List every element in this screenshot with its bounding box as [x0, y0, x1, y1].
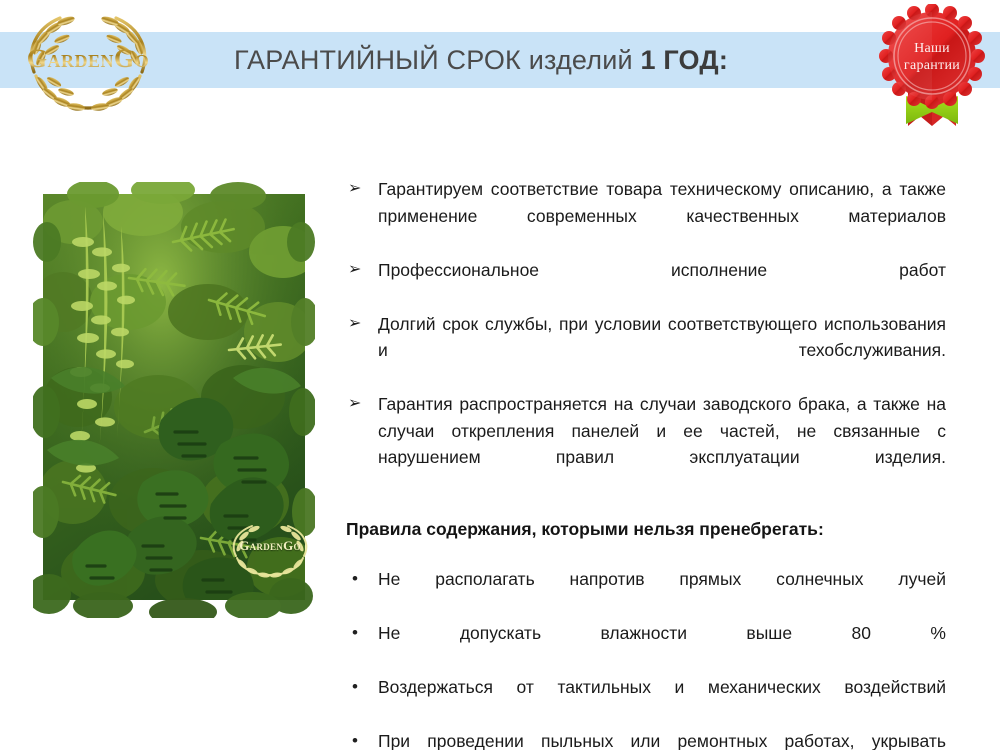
rules-heading: Правила содержания, которыми нельзя прен… [346, 517, 946, 542]
list-item: • Воздержаться от тактильных и механичес… [346, 674, 946, 727]
list-item: ➢ Гарантия распространяется на случаи за… [346, 391, 946, 497]
dot-bullet-icon: • [352, 566, 358, 593]
list-item: • Не допускать влажности выше 80 % [346, 620, 946, 673]
arrow-bullet-icon: ➢ [348, 176, 361, 203]
list-item-text: Гарантия распространяется на случаи заво… [378, 394, 946, 467]
page-title-strong: 1 ГОД: [640, 45, 728, 75]
brand-logo[interactable]: GardenGo [8, 6, 168, 114]
list-item: • При проведении пыльных или ремонтных р… [346, 728, 946, 750]
list-item: ➢ Профессиональное исполнение работ [346, 257, 946, 310]
rules-list: • Не располагать напротив прямых солнечн… [346, 566, 946, 750]
page-title-regular: ГАРАНТИЙНЫЙ СРОК изделий [234, 45, 640, 75]
page-title: ГАРАНТИЙНЫЙ СРОК изделий 1 ГОД: [234, 44, 874, 76]
guarantee-list: ➢ Гарантируем соответствие товара технич… [346, 176, 946, 497]
list-item-text: Гарантируем соответствие товара техничес… [378, 179, 946, 226]
list-item-text: Воздержаться от тактильных и механически… [378, 677, 946, 697]
dot-bullet-icon: • [352, 674, 358, 701]
content-column: ➢ Гарантируем соответствие товара технич… [346, 176, 946, 750]
guarantee-badge[interactable]: Наши гарантии [868, 4, 996, 136]
dot-bullet-icon: • [352, 620, 358, 647]
dot-bullet-icon: • [352, 728, 358, 750]
list-item-text: Не допускать влажности выше 80 % [378, 623, 946, 643]
green-wall-panel-illustration [33, 182, 315, 618]
list-item: ➢ Гарантируем соответствие товара технич… [346, 176, 946, 256]
arrow-bullet-icon: ➢ [348, 391, 361, 418]
list-item-text: Не располагать напротив прямых солнечных… [378, 569, 946, 589]
brand-logo-text: GardenGo [8, 44, 168, 74]
list-item-text: Долгий срок службы, при условии соответс… [378, 314, 946, 361]
slide-root: ГАРАНТИЙНЫЙ СРОК изделий 1 ГОД: [0, 0, 1000, 750]
arrow-bullet-icon: ➢ [348, 257, 361, 284]
award-rosette-icon [868, 4, 996, 136]
list-item-text: При проведении пыльных или ремонтных раб… [378, 731, 946, 750]
list-item: ➢ Долгий срок службы, при условии соотве… [346, 311, 946, 391]
plant-wall-image: GardenGo [33, 182, 315, 618]
list-item-text: Профессиональное исполнение работ [378, 260, 946, 280]
arrow-bullet-icon: ➢ [348, 311, 361, 338]
list-item: • Не располагать напротив прямых солнечн… [346, 566, 946, 619]
